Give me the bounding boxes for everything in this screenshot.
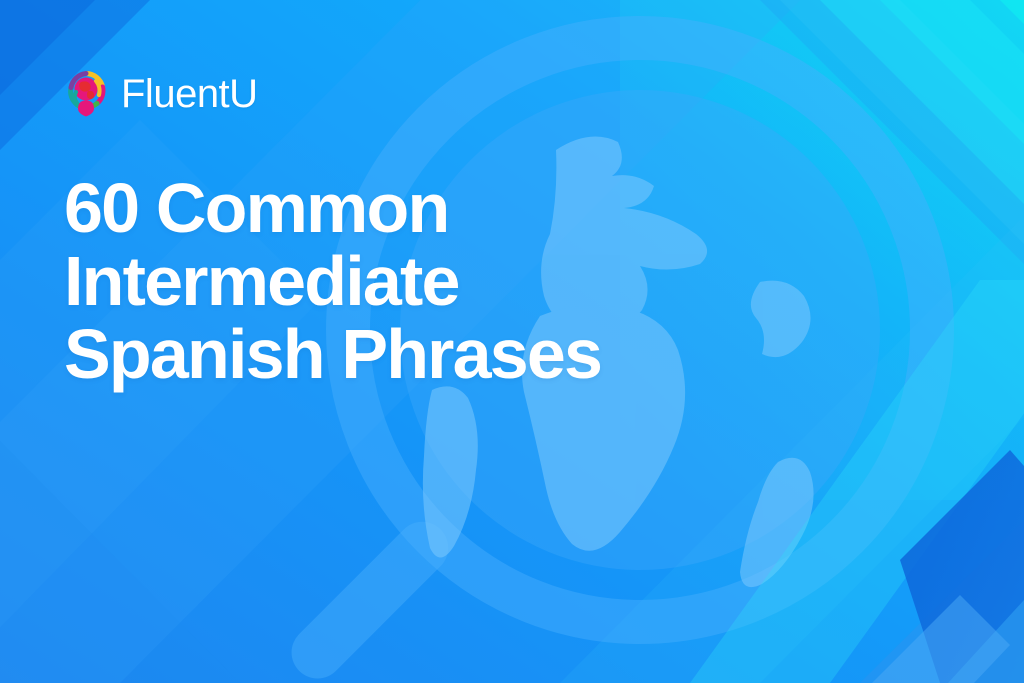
fluentu-logo[interactable]: FluentU	[64, 70, 258, 118]
title-line-3: Spanish Phrases	[64, 318, 601, 391]
title-line-1: 60 Common	[64, 172, 601, 245]
title-line-2: Intermediate	[64, 245, 601, 318]
fluentu-wordmark: FluentU	[121, 74, 258, 114]
hero-banner: FluentU 60 Common Intermediate Spanish P…	[0, 0, 1024, 683]
fluentu-globe-logo-icon	[64, 70, 108, 118]
page-title: 60 Common Intermediate Spanish Phrases	[64, 172, 601, 391]
